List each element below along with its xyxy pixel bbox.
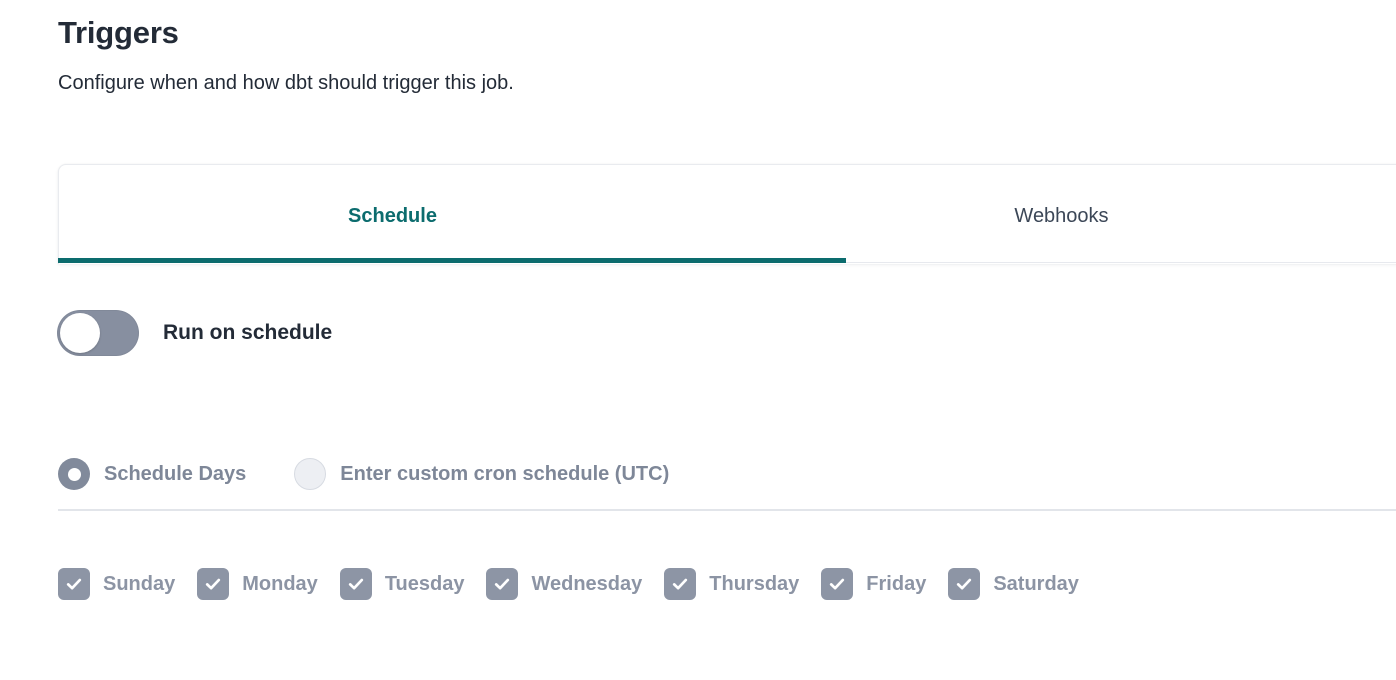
weekday-sunday-label: Sunday [103, 573, 175, 596]
run-on-schedule-row: Run on schedule [57, 310, 332, 356]
weekday-monday-label: Monday [242, 573, 318, 596]
weekday-wednesday-label: Wednesday [531, 573, 642, 596]
page-title: Triggers [58, 12, 1358, 54]
toggle-knob [60, 313, 100, 353]
triggers-page: Triggers Configure when and how dbt shou… [0, 0, 1396, 680]
weekday-tuesday-label: Tuesday [385, 573, 465, 596]
weekday-monday[interactable]: Monday [197, 568, 318, 600]
weekday-tuesday[interactable]: Tuesday [340, 568, 465, 600]
radio-schedule-days[interactable]: Schedule Days [58, 458, 246, 490]
radio-selected-icon [58, 458, 90, 490]
run-on-schedule-toggle[interactable] [57, 310, 139, 356]
checkmark-icon [58, 568, 90, 600]
weekday-friday[interactable]: Friday [821, 568, 926, 600]
checkmark-icon [197, 568, 229, 600]
run-on-schedule-label: Run on schedule [163, 321, 332, 345]
tab-active-indicator [58, 258, 846, 263]
weekday-thursday-label: Thursday [709, 573, 799, 596]
weekday-friday-label: Friday [866, 573, 926, 596]
section-divider [58, 509, 1396, 511]
weekday-saturday-label: Saturday [993, 573, 1079, 596]
schedule-mode-radio-group: Schedule Days Enter custom cron schedule… [58, 458, 669, 490]
radio-schedule-days-label: Schedule Days [104, 463, 246, 486]
weekday-checkbox-group: Sunday Monday Tuesday Wednesday Thursday [58, 568, 1079, 600]
tab-webhooks[interactable]: Webhooks [727, 164, 1396, 268]
radio-unselected-icon [294, 458, 326, 490]
page-subtitle: Configure when and how dbt should trigge… [58, 68, 1358, 98]
tab-bar: Schedule Webhooks [58, 164, 1396, 268]
weekday-sunday[interactable]: Sunday [58, 568, 175, 600]
checkmark-icon [948, 568, 980, 600]
checkmark-icon [821, 568, 853, 600]
weekday-wednesday[interactable]: Wednesday [486, 568, 642, 600]
weekday-saturday[interactable]: Saturday [948, 568, 1079, 600]
checkmark-icon [486, 568, 518, 600]
checkmark-icon [664, 568, 696, 600]
tab-schedule[interactable]: Schedule [58, 164, 727, 268]
weekday-thursday[interactable]: Thursday [664, 568, 799, 600]
page-header: Triggers Configure when and how dbt shou… [58, 12, 1358, 98]
radio-custom-cron-label: Enter custom cron schedule (UTC) [340, 463, 669, 486]
radio-custom-cron[interactable]: Enter custom cron schedule (UTC) [294, 458, 669, 490]
checkmark-icon [340, 568, 372, 600]
